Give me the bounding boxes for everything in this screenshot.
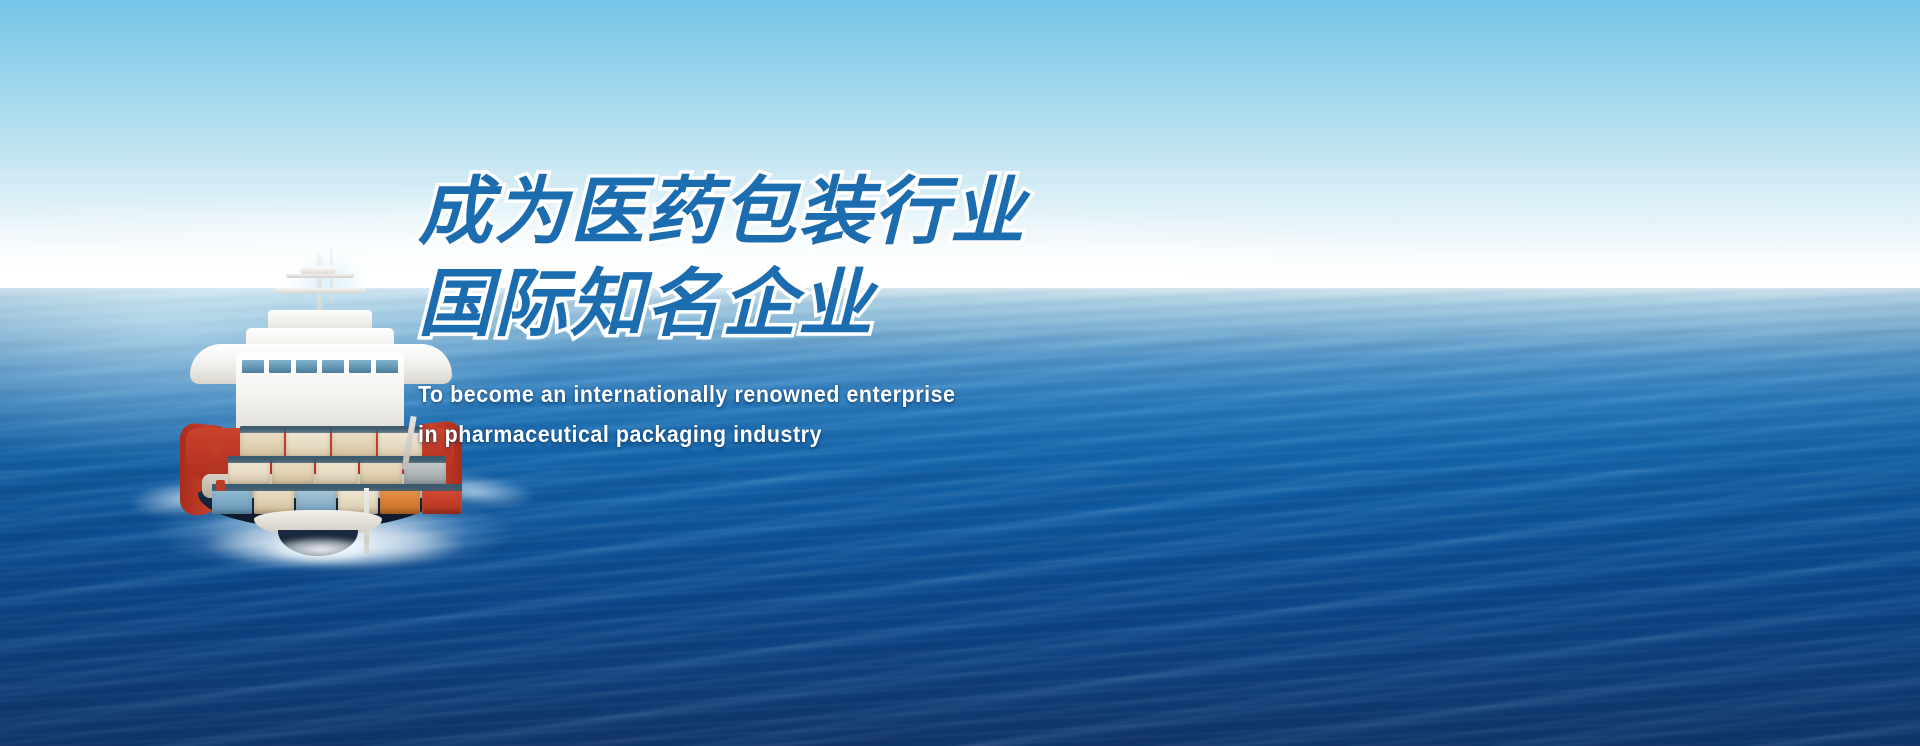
banner-headline: 成为医药包装行业 国际知名企业 — [418, 168, 1178, 348]
banner-copy: 成为医药包装行业 国际知名企业 To become an internation… — [418, 168, 1178, 454]
container-row-middle — [228, 456, 446, 486]
headline-line-1: 成为医药包装行业 — [418, 168, 1178, 256]
ship-deck-fitting-3 — [216, 480, 225, 491]
container-row-top — [240, 426, 422, 460]
subtitle-line-2: in pharmaceutical packaging industry — [418, 414, 1125, 454]
ship-mast — [317, 254, 322, 316]
ship-mast-yard-upper — [286, 274, 354, 278]
ship-deck-fitting-2 — [212, 460, 221, 471]
ship-deck-fitting-1 — [212, 444, 221, 455]
hero-banner: 成为医药包装行业 国际知名企业 To become an internation… — [0, 0, 1920, 746]
ship-bridge-windows — [242, 360, 398, 373]
subtitle-line-1: To become an internationally renowned en… — [418, 374, 1125, 414]
headline-line-2: 国际知名企业 — [418, 260, 1178, 348]
ship-mast-yard-lower — [274, 288, 366, 293]
ship-bow-foam — [246, 536, 396, 570]
banner-subtitle: To become an internationally renowned en… — [418, 374, 1125, 454]
